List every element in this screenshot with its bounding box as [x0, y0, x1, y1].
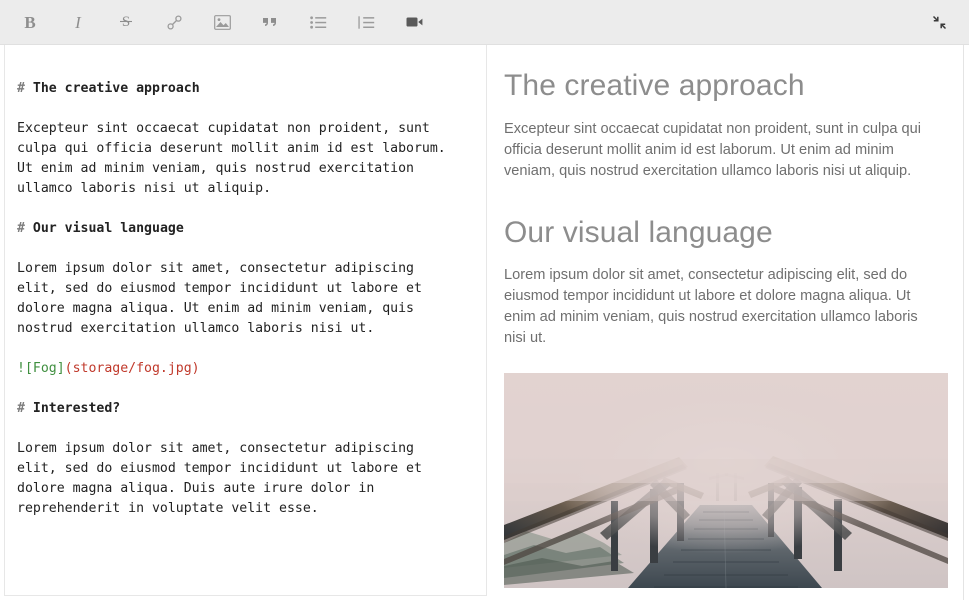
video-button[interactable] — [390, 0, 438, 45]
md-heading-text: Interested? — [25, 401, 120, 416]
toolbar-format-group: B I S — [0, 0, 438, 45]
md-blank-line — [17, 99, 472, 119]
strikethrough-button[interactable]: S — [102, 0, 150, 45]
md-paragraph: Lorem ipsum dolor sit amet, consectetur … — [17, 261, 422, 336]
bold-button[interactable]: B — [6, 0, 54, 45]
fog-boardwalk-photo — [504, 373, 948, 588]
rendered-preview-pane[interactable]: The creative approach Excepteur sint occ… — [487, 45, 964, 600]
italic-icon: I — [75, 14, 81, 31]
collapse-fullscreen-icon — [932, 15, 947, 30]
fog-boardwalk-illustration — [504, 373, 948, 588]
preview-paragraph-2: Lorem ipsum dolor sit amet, consectetur … — [504, 265, 934, 349]
quote-icon — [262, 15, 278, 29]
unordered-list-icon — [310, 16, 327, 29]
bold-icon: B — [24, 14, 35, 31]
link-button[interactable] — [150, 0, 198, 45]
md-paragraph: Lorem ipsum dolor sit amet, consectetur … — [17, 441, 422, 516]
split-view: # The creative approach Excepteur sint o… — [0, 45, 969, 600]
md-hash-token: # — [17, 81, 25, 96]
md-heading-text: Our visual language — [25, 221, 184, 236]
markdown-source-pane[interactable]: # The creative approach Excepteur sint o… — [4, 45, 487, 596]
md-heading-line: # Interested? — [17, 401, 120, 416]
collapse-fullscreen-button[interactable] — [915, 0, 963, 45]
preview-heading-2: Our visual language — [504, 214, 942, 252]
video-icon — [406, 16, 423, 28]
image-button[interactable] — [198, 0, 246, 45]
md-heading-text: The creative approach — [25, 81, 200, 96]
editor-toolbar: B I S — [0, 0, 969, 45]
md-heading-line: # Our visual language — [17, 221, 184, 236]
strikethrough-icon: S — [118, 13, 134, 31]
md-blank-line — [17, 199, 472, 219]
ordered-list-icon — [358, 16, 375, 29]
preview-paragraph-1: Excepteur sint occaecat cupidatat non pr… — [504, 119, 934, 182]
preview-heading-1: The creative approach — [504, 67, 942, 105]
md-heading-line: # The creative approach — [17, 81, 200, 96]
md-image-url-token: (storage/fog.jpg) — [65, 361, 200, 376]
quote-button[interactable] — [246, 0, 294, 45]
md-image-line: ![Fog](storage/fog.jpg) — [17, 361, 200, 376]
md-blank-line — [17, 379, 472, 399]
md-blank-line — [17, 339, 472, 359]
image-icon — [214, 15, 231, 30]
ordered-list-button[interactable] — [342, 0, 390, 45]
unordered-list-button[interactable] — [294, 0, 342, 45]
md-image-alt-token: ![Fog] — [17, 361, 65, 376]
md-blank-line — [17, 239, 472, 259]
link-icon — [166, 14, 183, 31]
md-hash-token: # — [17, 221, 25, 236]
md-paragraph: Excepteur sint occaecat cupidatat non pr… — [17, 121, 446, 196]
md-blank-line — [17, 419, 472, 439]
md-hash-token: # — [17, 401, 25, 416]
italic-button[interactable]: I — [54, 0, 102, 45]
markdown-editor-app: B I S — [0, 0, 969, 600]
markdown-textarea[interactable]: # The creative approach Excepteur sint o… — [5, 45, 486, 539]
toolbar-right-group — [915, 0, 969, 45]
